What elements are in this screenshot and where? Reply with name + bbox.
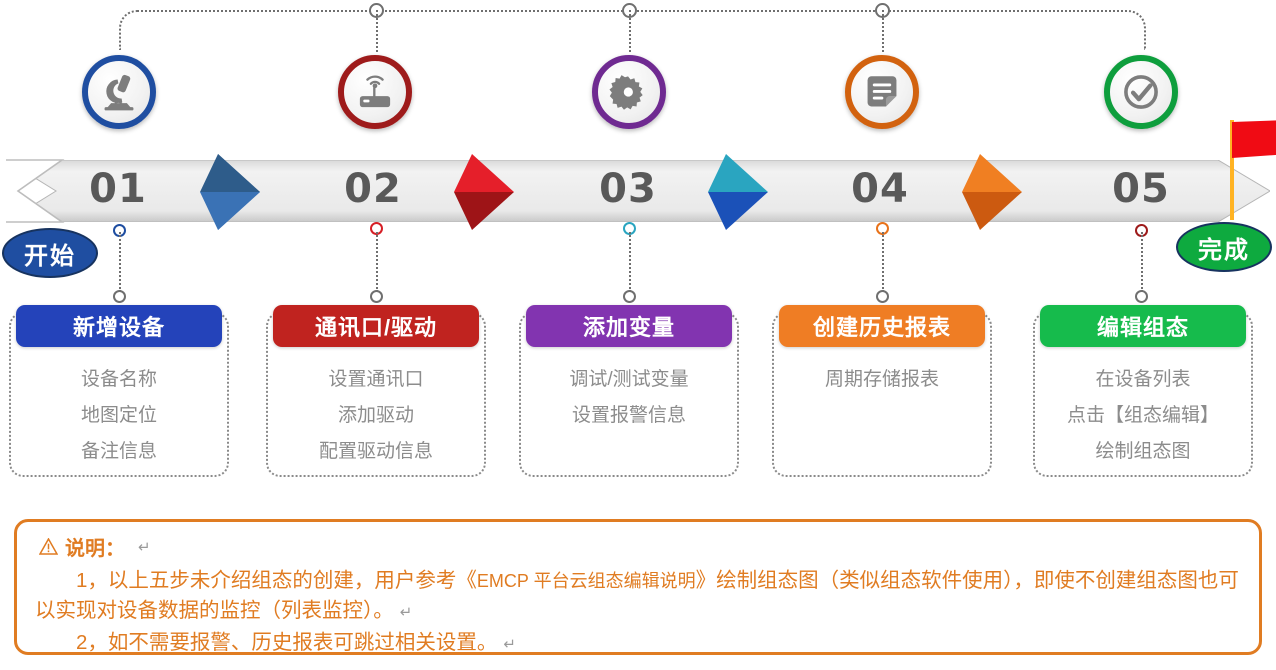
step-card-2-item-2: 配置驱动信息 <box>266 434 486 470</box>
note-title-row: 说明： ↵ <box>39 532 151 561</box>
gear-icon <box>608 71 650 113</box>
step-icon-report[interactable] <box>845 55 919 129</box>
note-line-2-pilcrow: ↵ <box>503 636 516 653</box>
check-circle-icon <box>1118 69 1164 115</box>
card-node-3 <box>623 290 636 303</box>
step-number-04: 04 <box>820 166 940 212</box>
step-number-03: 03 <box>568 166 688 212</box>
note-line-2-text: 2，如不需要报警、历史报表可跳过相关设置。 <box>76 631 497 654</box>
step-card-1-title: 新增设备 <box>16 305 222 347</box>
step-number-02: 02 <box>313 166 433 212</box>
rail-drop-3 <box>629 10 631 52</box>
chevron-separator-2 <box>452 152 530 232</box>
mid-drop-2 <box>376 232 378 292</box>
step-icon-microscope[interactable] <box>82 55 156 129</box>
step-card-1-item-1: 地图定位 <box>9 398 229 434</box>
step-card-3-title: 添加变量 <box>526 305 732 347</box>
chevron-separator-3 <box>706 152 784 232</box>
step-card-1-item-2: 备注信息 <box>9 434 229 470</box>
step-card-5-item-0: 在设备列表 <box>1033 362 1253 398</box>
step-card-1-item-0: 设备名称 <box>9 362 229 398</box>
step-card-5-items: 在设备列表 点击【组态编辑】 绘制组态图 <box>1033 362 1253 470</box>
rail-drop-4 <box>882 10 884 52</box>
step-card-3-items: 调试/测试变量 设置报警信息 <box>519 362 739 434</box>
mid-drop-5 <box>1141 232 1143 292</box>
step-icon-router[interactable] <box>338 55 412 129</box>
step-card-5-item-1: 点击【组态编辑】 <box>1033 398 1253 434</box>
step-card-2-items: 设置通讯口 添加驱动 配置驱动信息 <box>266 362 486 470</box>
note-line-2: 2，如不需要报警、历史报表可跳过相关设置。↵ <box>35 628 1247 660</box>
red-flag-icon <box>1232 120 1276 170</box>
step-card-2-title: 通讯口/驱动 <box>273 305 479 347</box>
note-line-1: 1，以上五步未介绍组态的创建，用户参考《EMCP 平台云组态编辑说明》绘制组态图… <box>35 566 1247 628</box>
note-line-1-prefix: 1，以上五步未介绍组态的创建，用户参考《 <box>76 569 477 592</box>
microscope-icon <box>98 71 140 113</box>
finish-badge[interactable]: 完成 <box>1176 222 1272 272</box>
report-document-icon <box>861 71 903 113</box>
note-line-1-pilcrow: ↵ <box>400 604 413 621</box>
note-title-text: 说明： <box>65 532 125 561</box>
step-number-01: 01 <box>58 166 178 212</box>
step-icon-check[interactable] <box>1104 55 1178 129</box>
step-card-2-item-0: 设置通讯口 <box>266 362 486 398</box>
step-card-4-items: 周期存储报表 <box>772 362 992 398</box>
mid-drop-4 <box>882 232 884 292</box>
mid-drop-1 <box>119 232 121 292</box>
step-card-2-item-1: 添加驱动 <box>266 398 486 434</box>
card-node-2 <box>370 290 383 303</box>
step-card-4-title: 创建历史报表 <box>779 305 985 347</box>
mid-drop-3 <box>629 232 631 292</box>
step-number-05: 05 <box>1081 166 1201 212</box>
note-box: 说明： ↵ 1，以上五步未介绍组态的创建，用户参考《EMCP 平台云组态编辑说明… <box>14 519 1262 655</box>
start-badge[interactable]: 开始 <box>2 228 98 278</box>
chevron-separator-4 <box>960 152 1038 232</box>
chevron-separator-1 <box>198 152 276 232</box>
note-body: 1，以上五步未介绍组态的创建，用户参考《EMCP 平台云组态编辑说明》绘制组态图… <box>35 566 1247 660</box>
step-card-5-title: 编辑组态 <box>1040 305 1246 347</box>
step-card-1-items: 设备名称 地图定位 备注信息 <box>9 362 229 470</box>
note-title-pilcrow: ↵ <box>138 538 151 556</box>
step-card-3-item-0: 调试/测试变量 <box>519 362 739 398</box>
card-node-5 <box>1135 290 1148 303</box>
step-card-4-item-0: 周期存储报表 <box>772 362 992 398</box>
rail-drop-2 <box>376 10 378 52</box>
step-card-3-item-1: 设置报警信息 <box>519 398 739 434</box>
warning-triangle-icon <box>39 538 58 555</box>
note-line-1-doc: EMCP 平台云组态编辑说明 <box>477 571 696 591</box>
card-node-1 <box>113 290 126 303</box>
step-card-5-item-2: 绘制组态图 <box>1033 434 1253 470</box>
router-wifi-icon <box>353 70 397 114</box>
flow-diagram: 01 02 03 04 05 <box>0 0 1276 670</box>
step-icon-gear[interactable] <box>592 55 666 129</box>
card-node-4 <box>876 290 889 303</box>
